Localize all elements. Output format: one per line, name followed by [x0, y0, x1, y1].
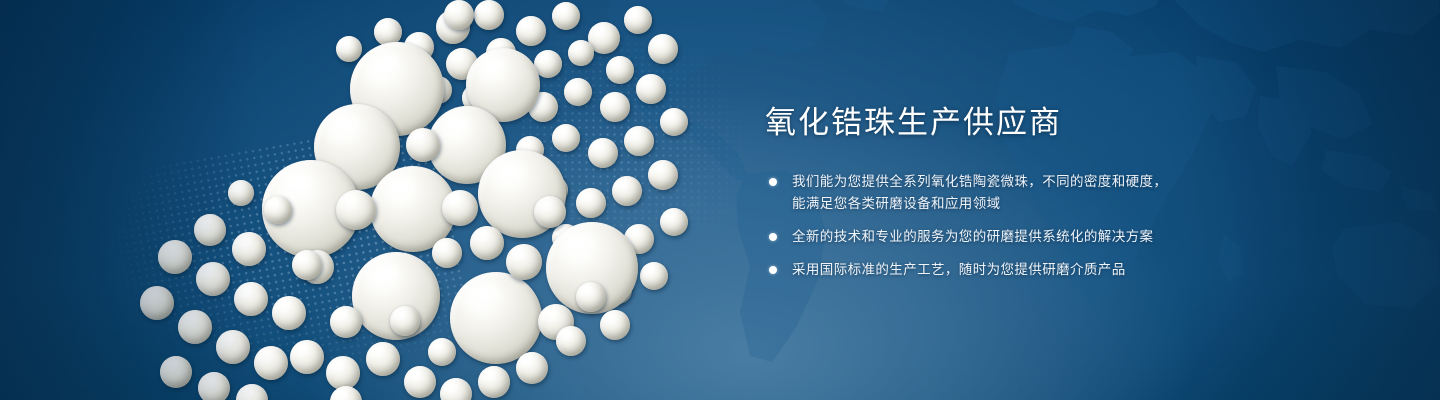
banner-copy: 氧化锆珠生产供应商 我们能为您提供全系列氧化锆陶瓷微珠，不同的密度和硬度， 能满…: [765, 104, 1235, 281]
list-item-line1: 全新的技术和专业的服务为您的研磨提供系统化的解决方案: [792, 229, 1153, 244]
feature-list: 我们能为您提供全系列氧化锆陶瓷微珠，不同的密度和硬度， 能满足您各类研磨设备和应…: [765, 171, 1235, 281]
list-item: 全新的技术和专业的服务为您的研磨提供系统化的解决方案: [765, 226, 1235, 248]
bullet-dot-icon: [769, 178, 777, 186]
bullet-dot-icon: [769, 266, 777, 274]
list-item: 采用国际标准的生产工艺，随时为您提供研磨介质产品: [765, 259, 1235, 281]
bullet-dot-icon: [769, 233, 777, 241]
hero-banner: 氧化锆珠生产供应商 我们能为您提供全系列氧化锆陶瓷微珠，不同的密度和硬度， 能满…: [0, 0, 1440, 400]
list-item: 我们能为您提供全系列氧化锆陶瓷微珠，不同的密度和硬度， 能满足您各类研磨设备和应…: [765, 171, 1235, 215]
list-item-line1: 我们能为您提供全系列氧化锆陶瓷微珠，不同的密度和硬度，: [792, 174, 1167, 189]
list-item-line1: 采用国际标准的生产工艺，随时为您提供研磨介质产品: [792, 262, 1126, 277]
page-title: 氧化锆珠生产供应商: [765, 104, 1235, 141]
list-item-line2: 能满足您各类研磨设备和应用领域: [792, 193, 1235, 215]
